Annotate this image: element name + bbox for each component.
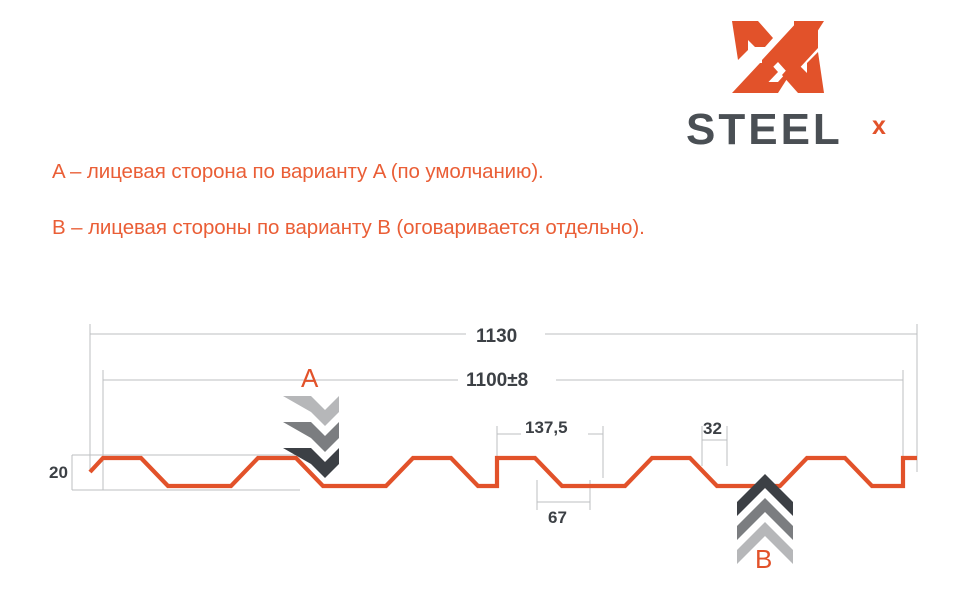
dimension-label-total-width: 1130 (476, 326, 517, 348)
dimension-lines-group (72, 324, 917, 510)
marker-letter-b: B (755, 544, 772, 575)
dimension-label-valley-width: 67 (548, 508, 567, 528)
steelx-logo-icon (732, 18, 824, 96)
note-variant-a: A – лицевая сторона по варианту A (по ум… (52, 160, 544, 184)
dimension-label-crest-width: 32 (703, 419, 722, 439)
marker-a-chevrons (283, 396, 339, 478)
logo-superscript: x (872, 114, 886, 139)
dimension-label-height: 20 (49, 463, 68, 483)
note-variant-b: B – лицевая стороны по варианту B (огова… (52, 216, 645, 240)
marker-letter-a: A (301, 363, 318, 394)
steelx-logo: STEEL x (686, 18, 904, 146)
dimension-label-useful-width: 1100±8 (466, 370, 528, 392)
dimension-label-wave-pitch: 137,5 (525, 418, 568, 438)
profile-waveform (90, 458, 917, 486)
diagram-page: STEEL x A – лицевая сторона по варианту … (0, 0, 970, 597)
